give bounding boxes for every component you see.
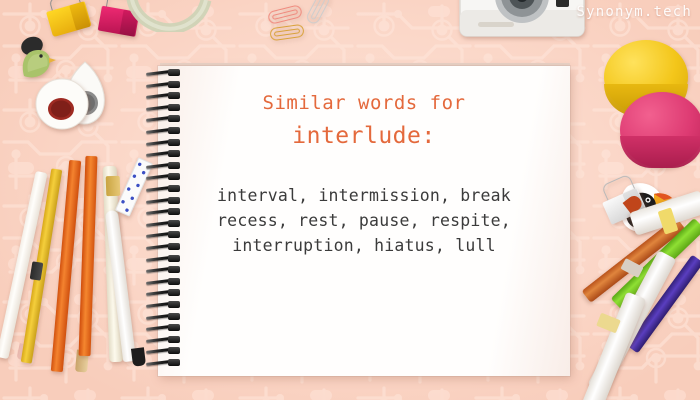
spiral-coil	[146, 302, 186, 309]
watermark-logo: Synonym.tech	[576, 4, 692, 20]
pen-cream-grip	[106, 176, 121, 196]
title-line-1: Similar words for	[158, 92, 570, 114]
spiral-coil	[146, 360, 186, 367]
spiral-coil	[146, 314, 186, 321]
desk-background: Synonym.tech	[0, 0, 700, 400]
synonym-line: interval, intermission, break	[178, 183, 550, 208]
synonym-line: recess, rest, pause, respite,	[178, 208, 550, 233]
page-title: interlude:	[158, 123, 570, 149]
synonym-list: interval, intermission, break recess, re…	[158, 183, 570, 258]
pen-white-black-tip-cap	[131, 347, 146, 366]
egg-eraser-red	[34, 76, 90, 132]
spiral-coil	[146, 279, 186, 286]
spiral-coil	[146, 325, 186, 332]
camera	[456, 0, 588, 48]
spiral-coil	[146, 267, 186, 274]
spiral-coil	[146, 337, 186, 344]
bird-eraser	[16, 36, 58, 80]
washi-tape	[122, 0, 212, 32]
spiral-coil	[146, 290, 186, 297]
spiral-coil	[146, 348, 186, 355]
synonym-line: interruption, hiatus, lull	[178, 233, 550, 258]
notebook-text-block: Similar words for interlude: interval, i…	[158, 66, 570, 258]
